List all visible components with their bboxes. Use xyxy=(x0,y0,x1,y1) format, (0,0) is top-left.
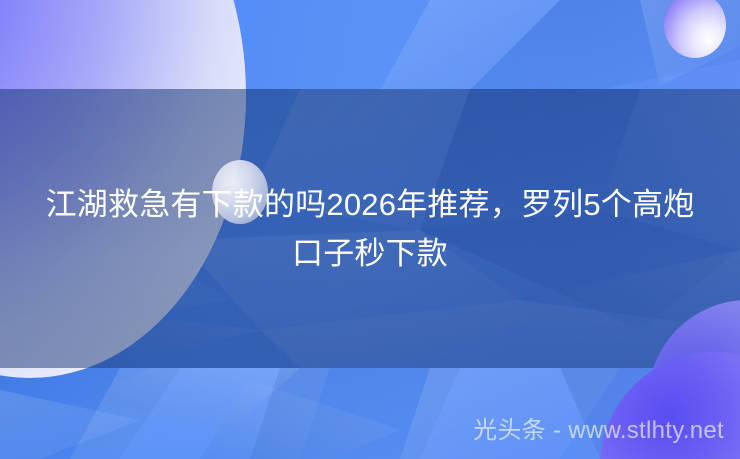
article-cover-image: 江湖救急有下款的吗2026年推荐，罗列5个高炮口子秒下款 光头条 - www.s… xyxy=(0,0,740,459)
site-watermark: 光头条 - www.stlhty.net xyxy=(473,417,724,445)
page-title: 江湖救急有下款的吗2026年推荐，罗列5个高炮口子秒下款 xyxy=(0,180,740,278)
